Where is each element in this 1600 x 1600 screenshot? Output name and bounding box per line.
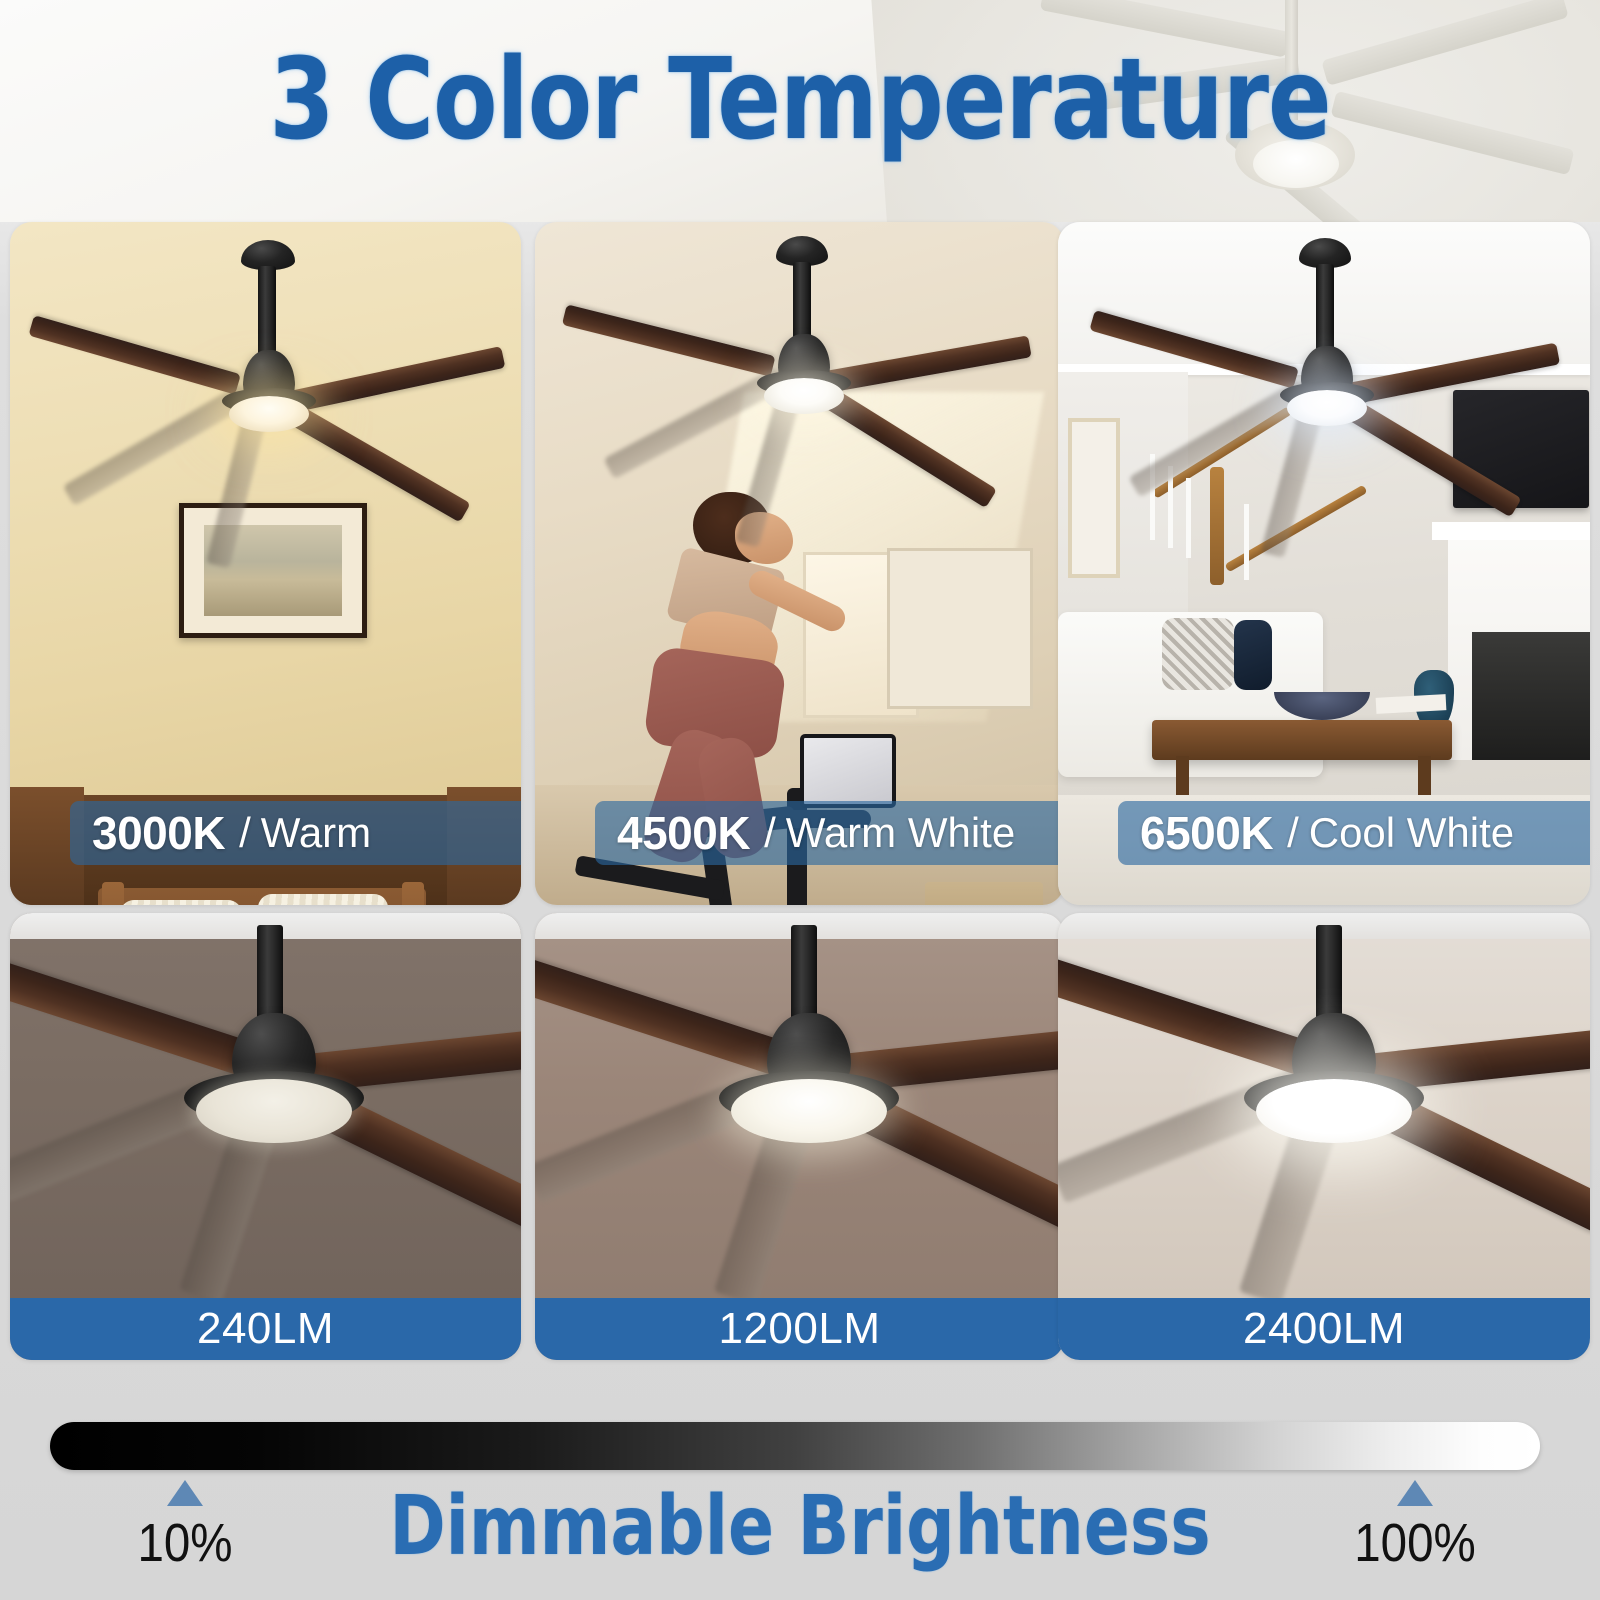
lumen-value: 240LM xyxy=(197,1304,334,1354)
kelvin-value: 3000K xyxy=(92,806,225,860)
caption-6500k: 6500K / Cool White xyxy=(1118,801,1590,865)
fan-blade xyxy=(535,954,787,1076)
caption-3000k: 3000K / Warm xyxy=(70,801,521,865)
fan-blade xyxy=(819,386,997,509)
brightness-tile-1200lm[interactable]: 1200LM xyxy=(535,913,1064,1360)
caption-1200lm: 1200LM xyxy=(535,1298,1064,1360)
ceiling-fan xyxy=(535,222,1064,652)
bed-post-right xyxy=(402,882,424,905)
fan-closeup-medium xyxy=(535,913,1064,1360)
separator: / xyxy=(764,809,776,857)
caption-4500k: 4500K / Warm White xyxy=(595,801,1064,865)
bed-post-left xyxy=(102,882,124,905)
temperature-tile-4500k[interactable]: 4500K / Warm White xyxy=(535,222,1064,905)
caption-2400lm: 2400LM xyxy=(1058,1298,1590,1360)
kelvin-value: 4500K xyxy=(617,806,750,860)
fan-blade xyxy=(735,401,798,548)
side-table xyxy=(925,882,1043,905)
fan-blade xyxy=(284,346,506,414)
fan-blade xyxy=(287,403,471,522)
fan-light-dome xyxy=(764,378,844,414)
fan-blade xyxy=(1342,398,1521,518)
fan-closeup-bright xyxy=(1058,913,1590,1360)
fan-light-dome xyxy=(731,1079,887,1143)
ceiling-fan-closeup xyxy=(1058,913,1590,1303)
page-title: 3 Color Temperature xyxy=(56,44,1544,156)
kelvin-name: Warm xyxy=(261,809,371,857)
caption-240lm: 240LM xyxy=(10,1298,521,1360)
coffee-table xyxy=(1152,720,1452,760)
fan-light-dome xyxy=(196,1079,352,1143)
kelvin-name: Warm White xyxy=(786,809,1015,857)
temperature-tile-3000k[interactable]: 3000K / Warm xyxy=(10,222,521,905)
fan-blade xyxy=(1261,411,1322,558)
separator: / xyxy=(1287,809,1299,857)
fan-blade xyxy=(1239,1118,1337,1305)
ceiling-fan-closeup xyxy=(10,913,521,1303)
ceiling-fan xyxy=(1058,222,1590,652)
kelvin-value: 6500K xyxy=(1140,806,1273,860)
infographic-page: 3 Color Temperature xyxy=(0,0,1600,1600)
lumen-value: 2400LM xyxy=(1243,1304,1405,1354)
dimmable-brightness-title: Dimmable Brightness xyxy=(64,1484,1536,1570)
fan-light-dome xyxy=(1256,1079,1412,1143)
fan-blade xyxy=(714,1118,812,1305)
fan-blade xyxy=(1058,954,1312,1077)
pillow xyxy=(258,894,388,905)
fan-blade xyxy=(10,955,252,1076)
kelvin-name: Cool White xyxy=(1309,809,1514,857)
fan-blade xyxy=(179,1118,276,1303)
fan-blade xyxy=(562,304,776,376)
fan-blade xyxy=(28,315,240,394)
fan-blade xyxy=(819,335,1032,393)
fan-blade xyxy=(1342,343,1560,406)
temperature-tile-6500k[interactable]: 6500K / Cool White xyxy=(1058,222,1590,905)
fan-closeup-dim xyxy=(10,913,521,1360)
brightness-tile-240lm[interactable]: 240LM xyxy=(10,913,521,1360)
ceiling-fan-closeup xyxy=(535,913,1064,1303)
fan-blade xyxy=(1089,310,1299,389)
brightness-tile-2400lm[interactable]: 2400LM xyxy=(1058,913,1590,1360)
ceiling-fan xyxy=(10,222,521,652)
lumen-value: 1200LM xyxy=(718,1304,880,1354)
brightness-gradient-bar[interactable] xyxy=(50,1422,1540,1470)
fan-light-dome xyxy=(229,396,309,432)
fan-blade xyxy=(206,417,266,568)
pillow xyxy=(120,900,242,905)
separator: / xyxy=(239,809,251,857)
fan-light-dome xyxy=(1287,390,1367,426)
